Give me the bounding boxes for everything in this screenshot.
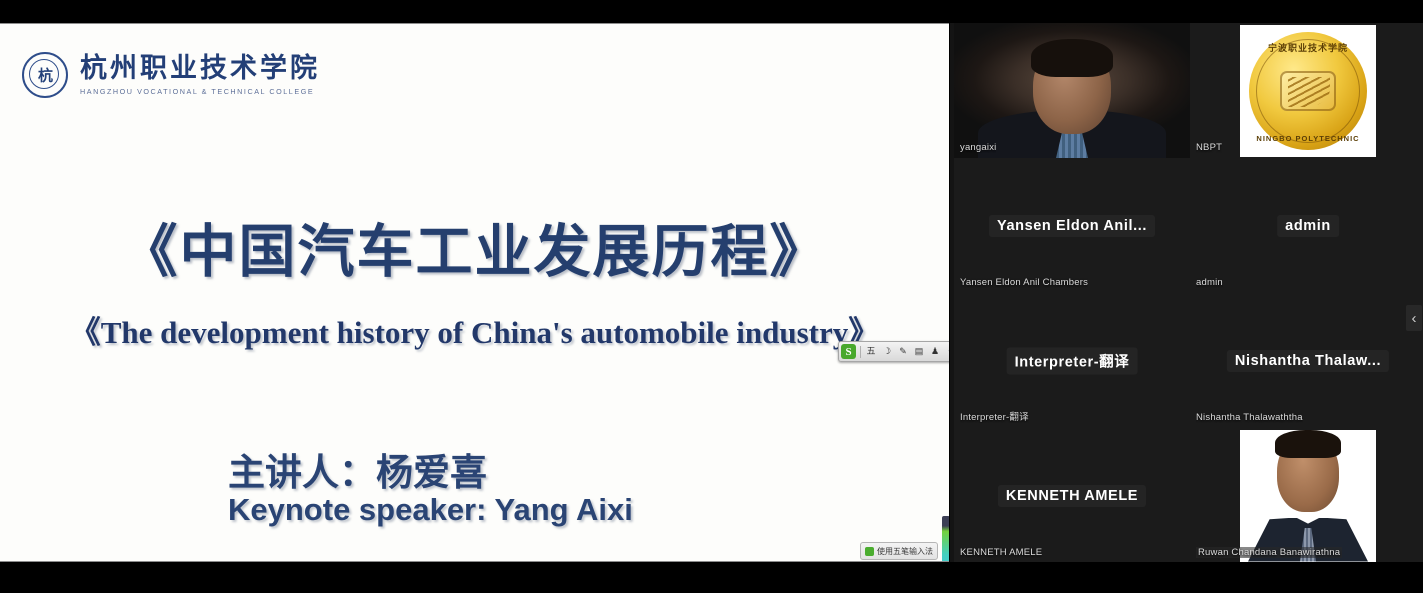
institution-seal-icon: 杭 (22, 52, 68, 98)
participant-display-name: KENNETH AMELE (998, 485, 1146, 507)
participant-display-name: admin (1277, 215, 1339, 237)
participant-name-label: KENNETH AMELE (960, 547, 1042, 558)
ime-tip-text: 使用五笔输入法 (877, 546, 933, 557)
shared-screen-slide[interactable]: 杭 杭州职业技术学院 HANGZHOU VOCATIONAL & TECHNIC… (0, 23, 949, 562)
ime-tip-bubble[interactable]: 使用五笔输入法 (860, 542, 938, 560)
slide-speaker-block: 主讲人：杨爱喜 Keynote speaker: Yang Aixi (228, 452, 633, 528)
microphone-icon[interactable]: ♟ (929, 346, 941, 358)
institution-seal-mark: 杭 (38, 65, 52, 86)
participant-name-label: Yansen Eldon Anil Chambers (960, 277, 1088, 288)
camera-feed-hair (1031, 39, 1113, 77)
institution-logo: 杭 杭州职业技术学院 HANGZHOU VOCATIONAL & TECHNIC… (22, 52, 320, 98)
participant-display-name: Yansen Eldon Anil... (989, 215, 1155, 237)
participant-tile[interactable]: Interpreter-翻译 Interpreter-翻译 (954, 293, 1190, 428)
chevron-left-icon[interactable]: ‹ (1406, 305, 1422, 331)
letterbox-top (0, 0, 1423, 23)
ime-floating-toolbar[interactable]: S 五 ☽ ✎ ▤ ♟ ⁘ (838, 341, 949, 362)
speaker-name-cn: 主讲人：杨爱喜 (228, 452, 633, 493)
participant-display-name: Interpreter-翻译 (1007, 347, 1138, 374)
participant-tile[interactable]: KENNETH AMELE KENNETH AMELE (954, 428, 1190, 562)
slide-title-en: 《The development history of China's auto… (0, 307, 949, 352)
sogou-ime-icon (865, 547, 874, 556)
moon-icon[interactable]: ☽ (881, 346, 893, 358)
camera-feed (954, 23, 1190, 158)
seal-emblem-icon (1280, 71, 1336, 111)
wubi-mode-icon[interactable]: 五 (865, 346, 877, 358)
slide-title-cn: 《中国汽车工业发展历程》 (0, 206, 949, 288)
participant-name-label: NBPT (1196, 142, 1222, 153)
participant-name-label: yangaixi (960, 142, 996, 153)
seal-text-en: NINGBO POLYTECHNIC (1249, 134, 1367, 143)
participant-name-label: Nishantha Thalawaththa (1196, 412, 1303, 423)
speaker-name-en: Keynote speaker: Yang Aixi (228, 493, 633, 528)
seal-text-cn: 宁波职业技术学院 (1249, 41, 1367, 54)
keyboard-icon[interactable]: ▤ (913, 346, 925, 358)
institution-name-cn: 杭州职业技术学院 (80, 54, 320, 82)
avatar: 宁波职业技术学院 NINGBO POLYTECHNIC (1240, 25, 1376, 157)
annotation-color-handle[interactable] (942, 516, 949, 562)
pen-icon[interactable]: ✎ (897, 346, 909, 358)
participant-name-label: admin (1196, 277, 1223, 288)
ningbo-polytechnic-seal-icon: 宁波职业技术学院 NINGBO POLYTECHNIC (1249, 32, 1367, 150)
participant-video-panel[interactable]: yangaixi 宁波职业技术学院 NINGBO POLYTECHNIC NBP… (950, 23, 1423, 562)
institution-name-en: HANGZHOU VOCATIONAL & TECHNICAL COLLEGE (80, 87, 320, 96)
participant-tile[interactable]: Ruwan Chandana Banawirathna (1190, 428, 1423, 562)
participant-tile[interactable]: admin admin (1190, 158, 1423, 293)
letterbox-bottom (0, 562, 1423, 593)
participant-tile[interactable]: Yansen Eldon Anil... Yansen Eldon Anil C… (954, 158, 1190, 293)
participant-display-name: Nishantha Thalaw... (1227, 350, 1389, 372)
avatar-hair (1275, 430, 1341, 458)
participant-tile[interactable]: Nishantha Thalaw... Nishantha Thalawatht… (1190, 293, 1423, 428)
institution-logo-text: 杭州职业技术学院 HANGZHOU VOCATIONAL & TECHNICAL… (80, 54, 320, 95)
toolbar-divider (860, 346, 861, 358)
meeting-screen: 杭 杭州职业技术学院 HANGZHOU VOCATIONAL & TECHNIC… (0, 0, 1423, 593)
participant-tile[interactable]: yangaixi (954, 23, 1190, 158)
sogou-ime-logo-icon[interactable]: S (841, 344, 856, 359)
toolbox-icon[interactable]: ⁘ (945, 346, 949, 358)
participant-name-label: Interpreter-翻译 (960, 409, 1029, 423)
participant-name-label: Ruwan Chandana Banawirathna (1196, 547, 1342, 558)
participant-tile[interactable]: 宁波职业技术学院 NINGBO POLYTECHNIC NBPT (1190, 23, 1423, 158)
avatar (1240, 430, 1376, 562)
